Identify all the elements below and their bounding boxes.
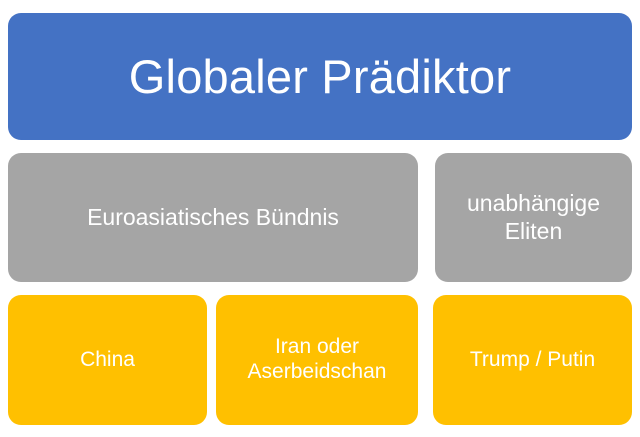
node-china[interactable]: China — [8, 295, 207, 425]
node-globaler-praediktor[interactable]: Globaler Prädiktor — [8, 13, 632, 140]
node-label-globaler-praediktor: Globaler Prädiktor — [8, 49, 632, 104]
node-label-euroasiatisches-buendnis: Euroasiatisches Bündnis — [8, 204, 418, 231]
node-trump-putin[interactable]: Trump / Putin — [433, 295, 632, 425]
node-label-unabhaengige-eliten: unabhängige Eliten — [435, 190, 632, 244]
node-iran-oder-aserbeidschan[interactable]: Iran oder Aserbeidschan — [216, 295, 418, 425]
node-label-china: China — [8, 348, 207, 373]
block-diagram-canvas: Globaler Prädiktor Euroasiatisches Bündn… — [0, 0, 640, 437]
node-label-trump-putin: Trump / Putin — [433, 348, 632, 373]
node-unabhaengige-eliten[interactable]: unabhängige Eliten — [435, 153, 632, 282]
node-euroasiatisches-buendnis[interactable]: Euroasiatisches Bündnis — [8, 153, 418, 282]
node-label-iran-oder-aserbeidschan: Iran oder Aserbeidschan — [216, 335, 418, 385]
